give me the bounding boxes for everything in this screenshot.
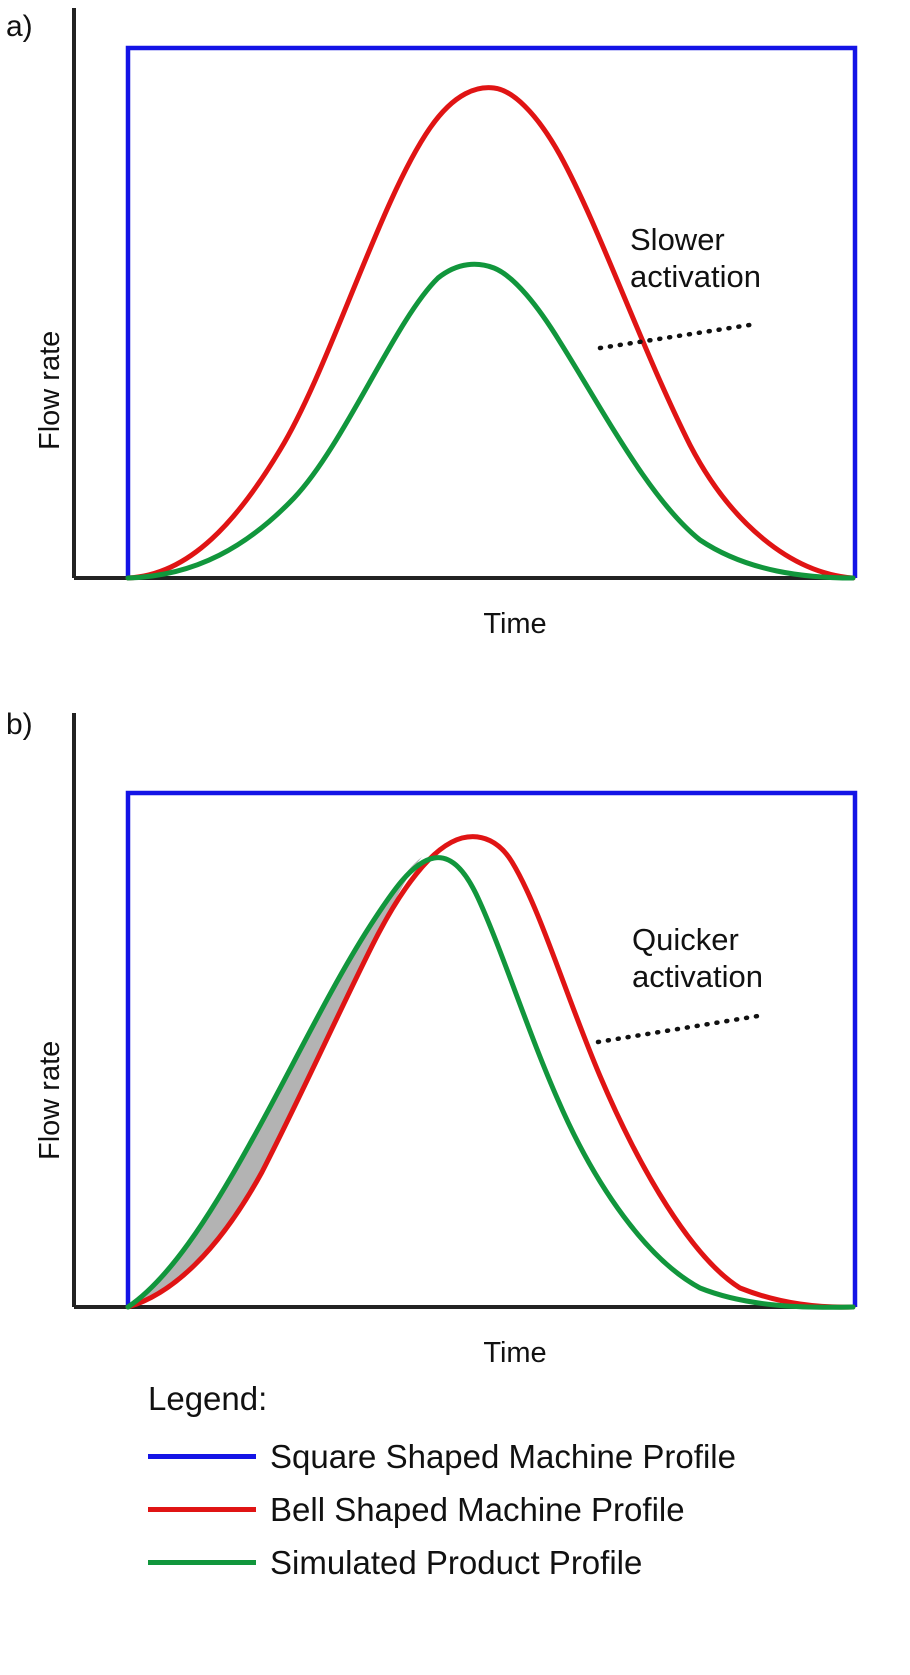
panel-b-annotation: Quicker activation	[632, 922, 763, 995]
legend: Legend: Square Shaped Machine Profile Be…	[0, 1370, 910, 1675]
legend-label-product-profile: Simulated Product Profile	[270, 1544, 642, 1582]
panel-a: a) Flow rate Slower activation Time	[0, 0, 910, 680]
panel-a-product-profile-curve	[128, 264, 853, 578]
legend-label-bell-profile: Bell Shaped Machine Profile	[270, 1491, 685, 1529]
legend-item-simulated-product-profile: Simulated Product Profile	[148, 1536, 888, 1589]
panel-a-annotation-line1: Slower	[630, 222, 761, 259]
legend-swatch-square-profile	[148, 1454, 256, 1459]
legend-swatch-bell-profile	[148, 1507, 256, 1512]
panel-b: b) Flow rate Quicker activation Time	[0, 680, 910, 1370]
panel-a-plot	[0, 0, 910, 680]
panel-b-annotation-line2: activation	[632, 959, 763, 996]
figure-container: a) Flow rate Slower activation Time b) F…	[0, 0, 910, 1675]
legend-title: Legend:	[148, 1380, 267, 1418]
panel-b-annotation-leader-line	[598, 1016, 758, 1042]
panel-a-annotation-line2: activation	[630, 259, 761, 296]
panel-b-shaded-activation-area	[128, 857, 422, 1307]
legend-rows: Square Shaped Machine Profile Bell Shape…	[148, 1430, 888, 1589]
panel-a-bell-profile-curve	[128, 88, 853, 578]
panel-a-annotation: Slower activation	[630, 222, 761, 295]
legend-item-square-shaped-machine-profile: Square Shaped Machine Profile	[148, 1430, 888, 1483]
panel-b-annotation-line1: Quicker	[632, 922, 763, 959]
panel-a-x-axis-label: Time	[60, 608, 910, 641]
panel-b-plot	[0, 680, 910, 1370]
legend-label-square-profile: Square Shaped Machine Profile	[270, 1438, 736, 1476]
panel-b-x-axis-label: Time	[60, 1337, 910, 1370]
legend-item-bell-shaped-machine-profile: Bell Shaped Machine Profile	[148, 1483, 888, 1536]
panel-b-square-profile-curve	[128, 793, 855, 1307]
legend-swatch-product-profile	[148, 1560, 256, 1565]
panel-b-bell-profile-curve	[128, 837, 853, 1308]
panel-a-square-profile-curve	[128, 48, 855, 578]
panel-a-annotation-leader-line	[600, 324, 756, 348]
